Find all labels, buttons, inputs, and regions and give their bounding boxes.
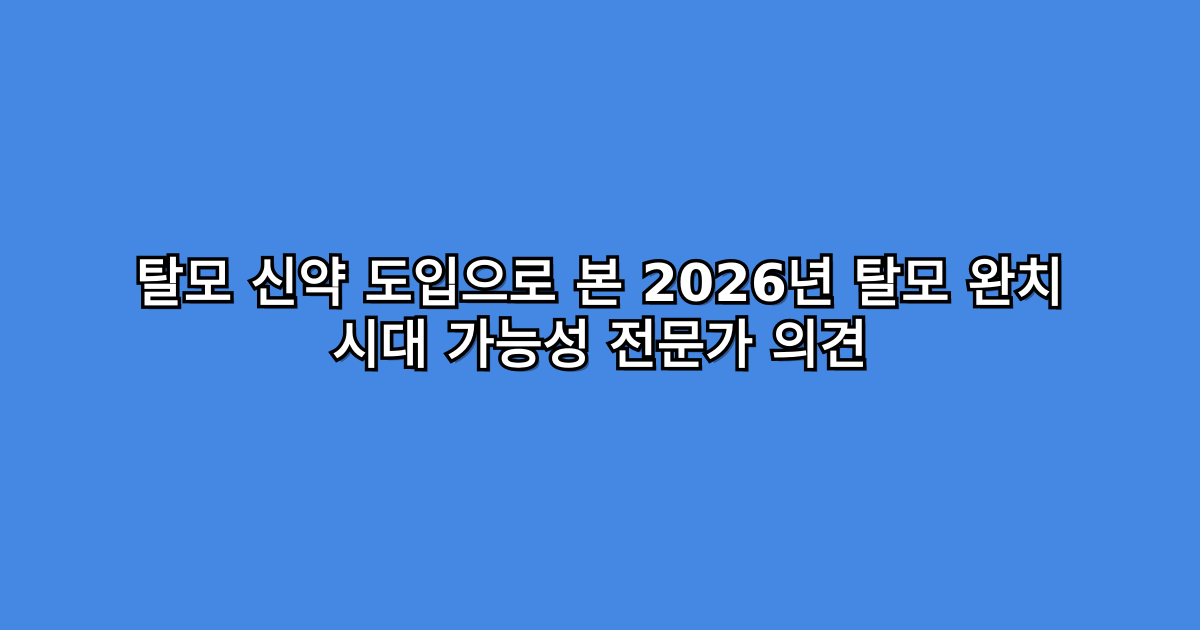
page-title: 탈모 신약 도입으로 본 2026년 탈모 완치 시대 가능성 전문가 의견 xyxy=(120,253,1080,377)
title-block: 탈모 신약 도입으로 본 2026년 탈모 완치 시대 가능성 전문가 의견 xyxy=(60,253,1140,377)
og-image-card: 탈모 신약 도입으로 본 2026년 탈모 완치 시대 가능성 전문가 의견 xyxy=(0,0,1200,630)
